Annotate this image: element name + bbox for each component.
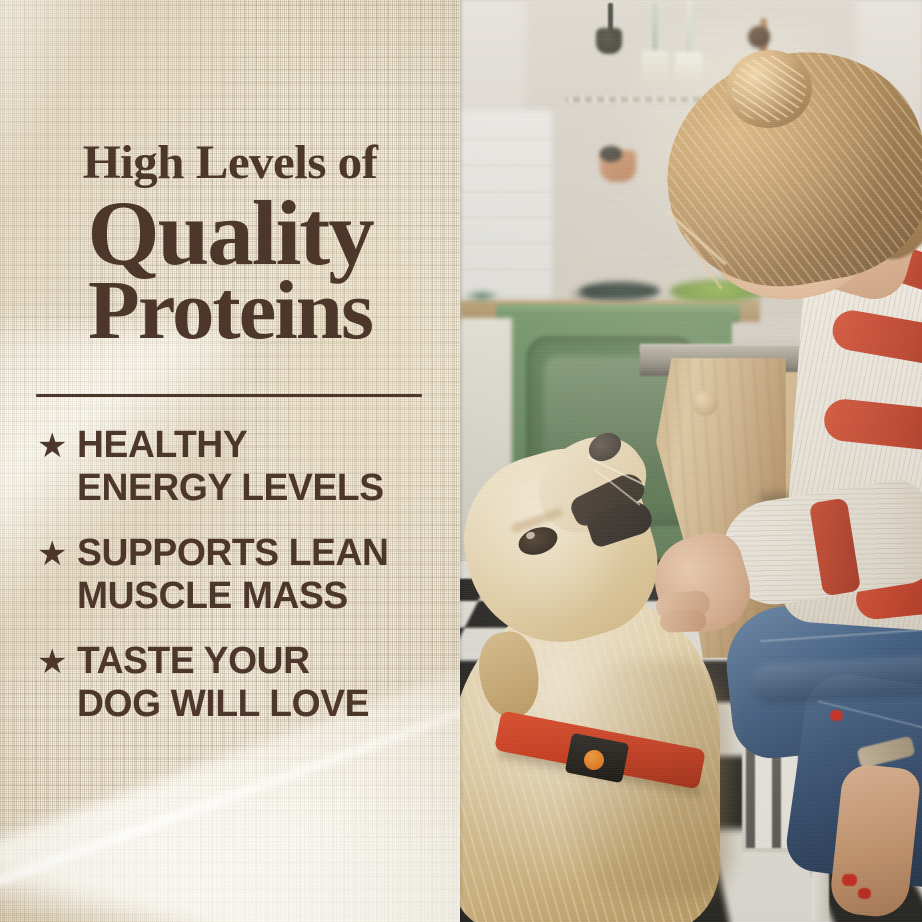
headline-line-1: High Levels of (0, 140, 460, 185)
hanging-masher-icon (748, 26, 770, 48)
benefits-list: ★ HEALTHY ENERGY LEVELS ★ SUPPORTS LEAN … (0, 424, 460, 748)
photo-left-edge (460, 0, 464, 922)
benefit-label: TASTE YOUR DOG WILL LOVE (77, 640, 369, 726)
protein-benefits-promo-card: High Levels of Quality Proteins ★ HEALTH… (0, 0, 922, 922)
hanging-spoon-icon (675, 52, 703, 88)
benefit-item-supports-lean-muscle-mass: ★ SUPPORTS LEAN MUSCLE MASS (0, 532, 460, 618)
table-knob (692, 390, 718, 416)
painted-toenail (830, 710, 843, 721)
hanging-spatula-icon (642, 50, 668, 86)
headline-divider (36, 394, 422, 397)
headline: High Levels of Quality Proteins (0, 140, 460, 351)
finger (660, 609, 707, 633)
star-icon: ★ (37, 641, 77, 683)
star-icon: ★ (37, 533, 77, 575)
text-panel: High Levels of Quality Proteins ★ HEALTH… (0, 0, 460, 922)
panel-content: High Levels of Quality Proteins ★ HEALTH… (0, 0, 460, 922)
lifestyle-photo (460, 0, 922, 922)
benefit-label: HEALTHY ENERGY LEVELS (77, 424, 384, 510)
copper-pot-lid (600, 146, 622, 162)
hanging-scoop-icon (596, 28, 622, 54)
benefit-item-taste-your-dog-will-love: ★ TASTE YOUR DOG WILL LOVE (0, 640, 460, 726)
benefit-item-healthy-energy-levels: ★ HEALTHY ENERGY LEVELS (0, 424, 460, 510)
dark-bowl (580, 282, 660, 300)
benefit-label: SUPPORTS LEAN MUSCLE MASS (77, 532, 388, 618)
star-icon: ★ (37, 425, 77, 467)
painted-toenail (842, 874, 857, 886)
painted-toenail (858, 888, 871, 899)
hanging-spatula-handle (652, 2, 658, 54)
headline-line-3: Proteins (0, 272, 460, 351)
hanging-spoon-handle (686, 0, 692, 56)
